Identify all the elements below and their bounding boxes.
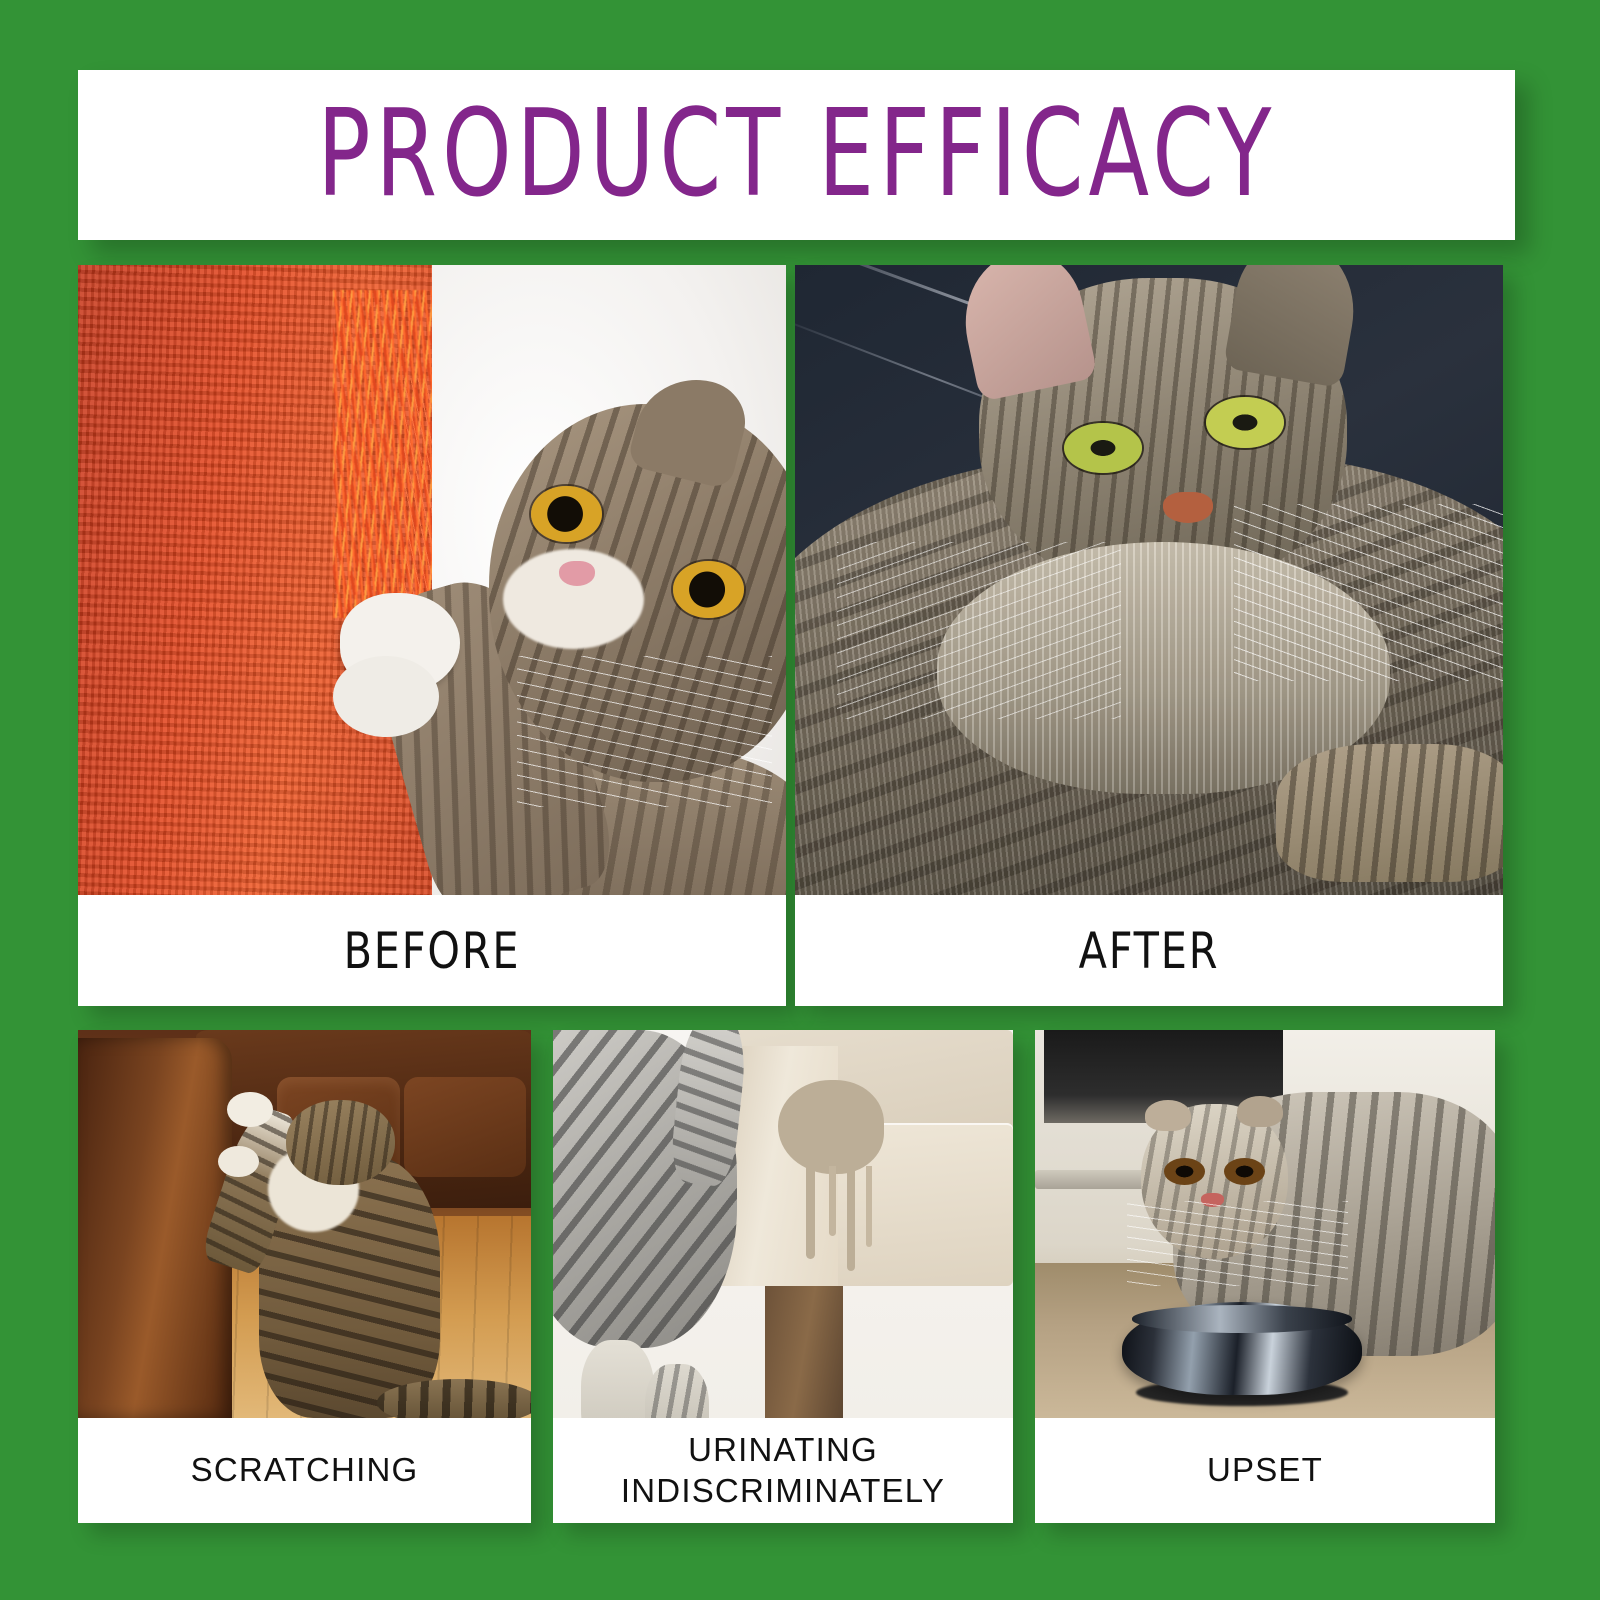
cat-eye-right — [1206, 397, 1284, 447]
cat-eye-right — [673, 561, 744, 618]
armchair-wooden-leg — [765, 1286, 843, 1418]
urinating-photo — [553, 1030, 1013, 1418]
sofa-cushion-right — [404, 1077, 526, 1178]
before-photo — [78, 265, 786, 895]
urinating-caption: URINATING INDISCRIMINATELY — [553, 1418, 1013, 1523]
after-caption: AFTER — [823, 895, 1474, 1006]
page-title: PRODUCT EFFICACY — [317, 95, 1276, 215]
urine-stain — [778, 1080, 884, 1173]
cat-front-paw — [1276, 744, 1503, 883]
product-efficacy-poster: PRODUCT EFFICACY BEFORE — [0, 0, 1600, 1600]
problem-card-urinating: URINATING INDISCRIMINATELY — [553, 1030, 1013, 1523]
problem-card-upset: UPSET — [1035, 1030, 1495, 1523]
cat-eye-left — [1064, 423, 1142, 473]
cat-hind-leg-left — [581, 1340, 655, 1418]
cat-whiskers — [1127, 1201, 1348, 1286]
upset-caption: UPSET — [1035, 1418, 1495, 1523]
cat-hind-leg-right — [645, 1364, 709, 1418]
cat-whiskers-left — [837, 542, 1120, 718]
cat-head — [286, 1100, 395, 1185]
urine-drip-3 — [847, 1166, 855, 1271]
cat-paw-top — [227, 1092, 272, 1127]
cat-nose — [1163, 492, 1213, 524]
urinating-caption-line-2: INDISCRIMINATELY — [621, 1472, 945, 1509]
after-photo — [795, 265, 1503, 895]
scratching-caption: SCRATCHING — [78, 1418, 531, 1523]
before-card: BEFORE — [78, 265, 786, 1006]
cat-ear-right — [1223, 265, 1366, 388]
cat-whiskers — [517, 656, 772, 807]
cat-folded-ear-right — [1237, 1096, 1283, 1127]
cat-paw-lower — [333, 656, 439, 738]
urine-drip-2 — [829, 1166, 836, 1236]
cat-whiskers-right — [1234, 504, 1503, 680]
cat-folded-ear-left — [1145, 1100, 1191, 1131]
food-bowl-rim — [1132, 1305, 1353, 1332]
title-card: PRODUCT EFFICACY — [78, 70, 1515, 240]
scratching-photo — [78, 1030, 531, 1418]
before-caption: BEFORE — [106, 895, 757, 1006]
after-card: AFTER — [795, 265, 1503, 1006]
urinating-caption-line-1: URINATING — [688, 1431, 878, 1468]
cat-eye-left — [531, 486, 602, 543]
problem-card-scratching: SCRATCHING — [78, 1030, 531, 1523]
upset-photo — [1035, 1030, 1495, 1418]
urine-drip-1 — [806, 1166, 815, 1259]
cat-eye-right — [1224, 1158, 1265, 1185]
urine-drip-4 — [866, 1166, 872, 1247]
cat-tail — [377, 1379, 531, 1418]
